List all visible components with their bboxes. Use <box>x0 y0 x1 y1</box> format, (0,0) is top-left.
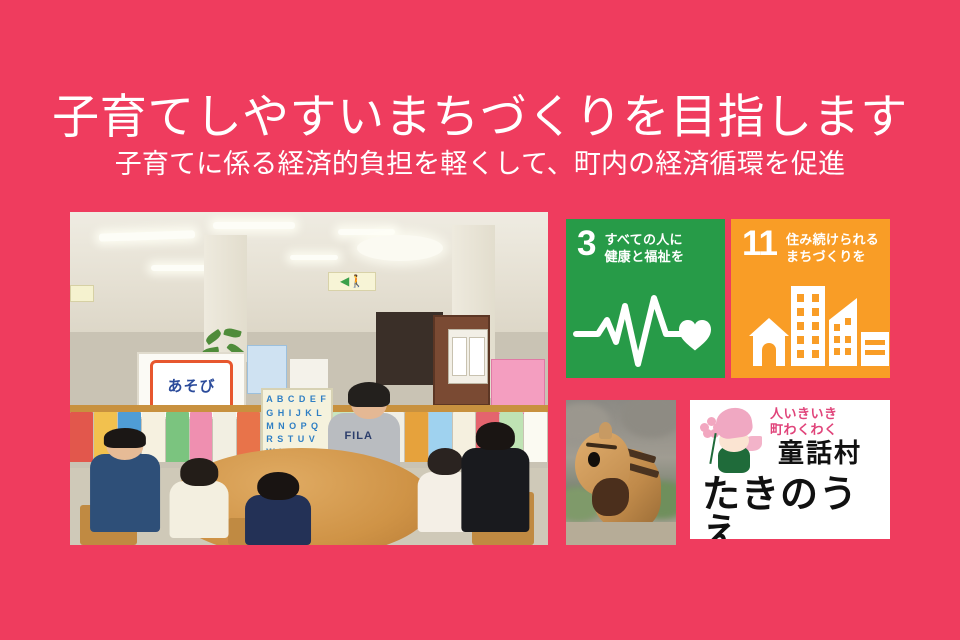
leaf <box>204 329 223 345</box>
mascot-character <box>700 408 774 482</box>
sdg-11-title-line1: 住み続けられる <box>786 231 879 248</box>
body <box>170 481 229 539</box>
parent-right-figure <box>457 422 533 532</box>
sdg-3-title: すべての人に 健康と福祉を <box>604 228 684 266</box>
campaign-banner: 子育てしやすいまちづくりを目指します 子育てに係る経済的負担を軽くして、町内の経… <box>0 0 960 640</box>
head <box>180 458 217 485</box>
town-logo: 人いきいき 町わくわく 童話村 たきのうえ <box>690 400 890 539</box>
heartbeat-heart-icon <box>566 276 725 372</box>
asobi-sign-text: あそび <box>150 360 234 410</box>
body <box>245 495 311 545</box>
logo-village-text: 童話村 <box>778 440 862 466</box>
hat <box>714 406 753 440</box>
child-figure-a <box>166 458 233 538</box>
sweatshirt-logo: FILA <box>344 430 372 442</box>
parent-left-figure <box>84 432 165 532</box>
ceiling-light <box>290 255 338 260</box>
bokeh <box>621 400 676 438</box>
ceiling-light <box>213 222 294 229</box>
sdg-badge-3: 3 すべての人に 健康と福祉を <box>566 219 725 378</box>
sdg-3-title-line2: 健康と福祉を <box>604 248 684 265</box>
page-title: 子育てしやすいまちづくりを目指します <box>0 92 960 143</box>
hair <box>348 382 390 407</box>
logo-tagline: 人いきいき 町わくわく <box>770 406 838 439</box>
library-photo: ◀🚶 あそび <box>70 212 548 545</box>
city-buildings-icon <box>731 276 890 372</box>
sdg-11-title: 住み続けられる まちづくりを <box>786 228 879 266</box>
sdg-3-header: 3 すべての人に 健康と福祉を <box>566 219 725 266</box>
head <box>257 472 299 500</box>
sdg-badge-11: 11 住み続けられる まちづくりを <box>731 219 890 378</box>
exit-sign: ◀🚶 <box>328 272 376 291</box>
notice-board <box>448 329 488 384</box>
headline-block: 子育てしやすいまちづくりを目指します 子育てに係る経済的負担を軽くして、町内の経… <box>0 92 960 179</box>
chipmunk-ear <box>599 422 612 439</box>
logo-tagline-line1: 人いきいき <box>770 406 838 422</box>
leaf <box>223 326 241 338</box>
exit-arrow-icon: ◀🚶 <box>340 275 364 287</box>
logo-tagline-line2: 町わくわく <box>770 422 838 438</box>
chipmunk-eye <box>588 452 600 467</box>
body <box>462 448 529 532</box>
page-subtitle: 子育てに係る経済的負担を軽くして、町内の経済循環を促進 <box>0 150 960 180</box>
blue-poster <box>247 345 287 394</box>
hair <box>104 428 146 448</box>
gravel-ground <box>566 522 676 545</box>
sdg-3-title-line1: すべての人に <box>604 231 684 248</box>
sdg-11-header: 11 住み続けられる まちづくりを <box>731 219 890 266</box>
child-figure-b <box>242 472 314 545</box>
book <box>213 412 236 462</box>
sdg-11-number: 11 <box>742 228 777 260</box>
exit-sign-left <box>70 285 94 302</box>
chipmunk-photo <box>566 400 676 545</box>
sdg-3-number: 3 <box>577 228 595 260</box>
hair <box>476 422 514 451</box>
pine-cone <box>592 478 628 516</box>
logo-town-name: たきのうえ <box>702 476 890 539</box>
body <box>90 454 160 532</box>
sdg-11-title-line2: まちづくりを <box>786 248 879 265</box>
book <box>166 412 189 462</box>
ceiling-light <box>338 229 395 235</box>
book <box>190 412 213 462</box>
